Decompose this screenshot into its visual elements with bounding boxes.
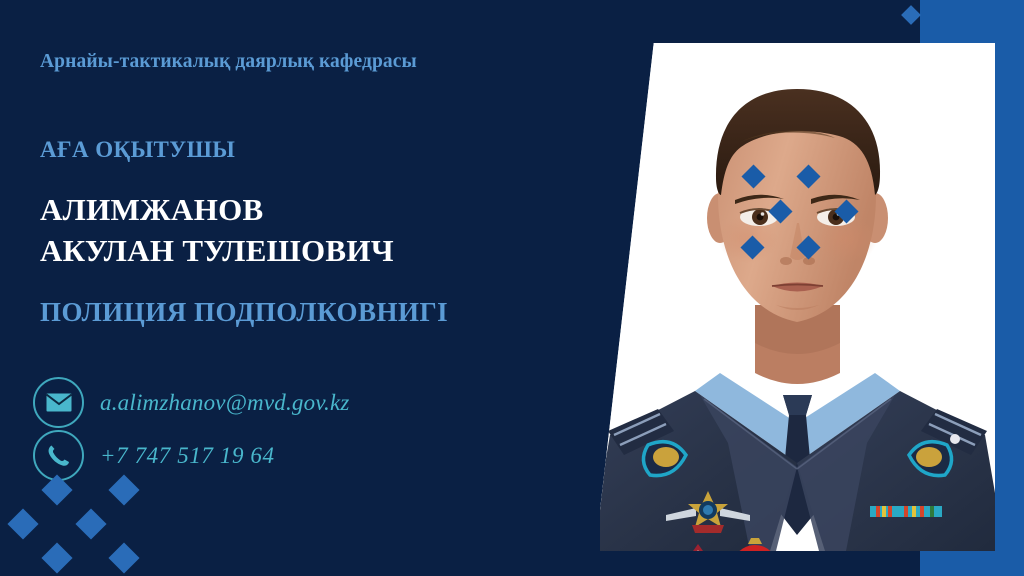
job-role: АҒА ОҚЫТУШЫ [40,137,235,163]
decor-diamond [75,508,106,539]
portrait-photo [600,43,995,551]
envelope-icon [33,377,84,428]
decor-diamond [7,508,38,539]
business-card-slide: Арнайы-тактикалық даярлық кафедрасы АҒА … [0,0,1024,576]
person-given-name: АКУЛАН ТУЛЕШОВИЧ [40,231,394,272]
phone-icon [33,430,84,481]
department-title: Арнайы-тактикалық даярлық кафедрасы [40,51,417,73]
person-surname: АЛИМЖАНОВ [40,190,394,231]
police-rank: ПОЛИЦИЯ ПОДПОЛКОВНИГІ [40,297,448,328]
contact-email-row[interactable]: a.alimzhanov@mvd.gov.kz [33,377,350,428]
contact-phone-row[interactable]: +7 747 517 19 64 [33,430,275,481]
envelope-glyph [46,393,72,412]
decor-diamond [901,5,921,25]
accent-panel-bottom-right [920,548,1024,576]
person-name: АЛИМЖАНОВ АКУЛАН ТУЛЕШОВИЧ [40,190,394,272]
phone-value[interactable]: +7 747 517 19 64 [100,443,275,469]
decor-diamond [41,542,72,573]
email-value[interactable]: a.alimzhanov@mvd.gov.kz [100,390,350,416]
decor-diamond [108,542,139,573]
portrait-card [600,43,995,551]
phone-glyph [46,443,71,468]
